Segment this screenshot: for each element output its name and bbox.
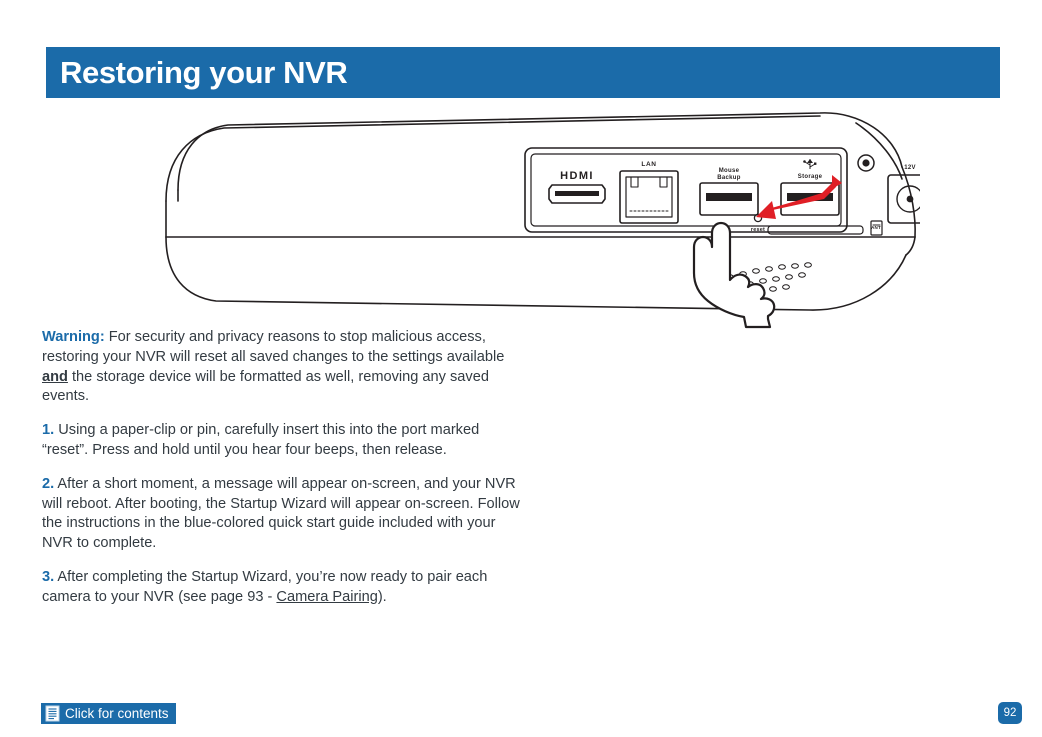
usb-storage-label: Storage [798,174,823,180]
page-root: Restoring your NVR [0,0,1042,737]
usb-symbol-icon [803,159,816,169]
page-header-band: Restoring your NVR [46,47,1000,98]
instructions-body: Warning: For security and privacy reason… [42,328,520,608]
power-jack-pin [907,196,914,203]
nvr-right-bottom-curve [906,237,915,255]
step-1-paragraph: 1. Using a paper-clip or pin, carefully … [42,421,520,461]
step-2-paragraph: 2. After a short moment, a message will … [42,475,520,554]
nvr-bottom-edge [166,237,906,310]
antenna-connector-pin [862,159,869,166]
camera-pairing-link[interactable]: Camera Pairing [276,589,377,605]
reset-label: reset [751,227,765,233]
lan-label: LAN [641,161,656,168]
warning-text-before: For security and privacy reasons to stop… [42,329,504,365]
usb-backup-label: Backup [717,175,741,181]
nvr-top-edge [178,113,902,190]
step-1-text: Using a paper-clip or pin, carefully ins… [42,422,479,458]
nvr-rear-panel-illustration: HDMI LAN Mouse Backup Storage reset 12V … [120,105,920,330]
warning-label: Warning: [42,329,105,345]
warning-paragraph: Warning: For security and privacy reason… [42,328,520,407]
hdmi-label: HDMI [560,170,594,182]
click-for-contents-button[interactable]: Click for contents [41,703,176,724]
step-3-text-before-link: After completing the Startup Wizard, you… [42,569,487,605]
nvr-diagram-svg: HDMI LAN Mouse Backup Storage reset 12V … [120,105,920,330]
ant-label: ANT [871,225,881,230]
page-number-badge: 92 [998,702,1022,724]
warning-emphasis: and [42,369,68,385]
step-3-paragraph: 3. After completing the Startup Wizard, … [42,568,520,608]
lan-port-frame [620,171,678,223]
nvr-top-edge-inner [166,116,820,201]
contents-button-label: Click for contents [65,707,169,721]
step-3-number: 3. [42,569,54,585]
step-2-text: After a short moment, a message will app… [42,476,520,551]
warning-text-after: the storage device will be formatted as … [42,369,489,405]
lan-port-inner [626,177,672,217]
document-lines-icon [45,705,60,722]
power-12v-label: 12V [904,165,916,171]
page-title: Restoring your NVR [46,57,347,88]
lan-clip-left [631,177,638,187]
step-3-text-after-link: ). [378,589,387,605]
hdmi-port-contacts [555,191,599,196]
step-1-number: 1. [42,422,54,438]
usb-mouse-backup-contacts [706,193,752,201]
step-2-number: 2. [42,476,54,492]
port-panel-plate [525,148,847,232]
usb-mouse-label: Mouse [719,168,740,174]
pointing-hand-icon [694,223,774,327]
lan-clip-right [660,177,667,187]
